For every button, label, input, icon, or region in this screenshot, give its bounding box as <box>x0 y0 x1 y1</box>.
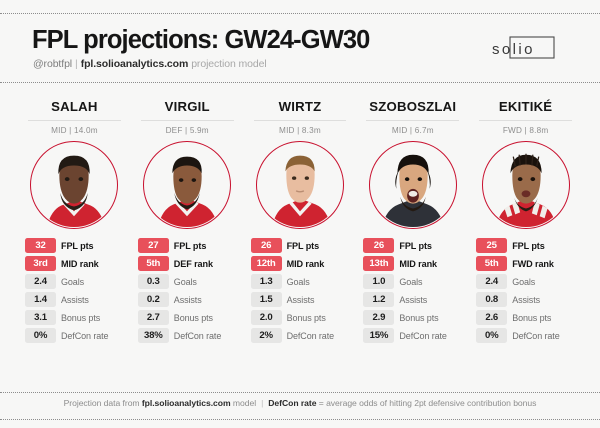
stat-row: 1.4 Assists <box>25 292 124 307</box>
svg-text:solio: solio <box>492 41 535 58</box>
stat-row: 38% DefCon rate <box>138 328 237 343</box>
player-photo <box>143 141 231 229</box>
stat-value: 2.4 <box>476 274 507 289</box>
footer-term: DefCon rate <box>268 398 316 408</box>
stat-value: 2.9 <box>363 310 394 325</box>
stat-label: Bonus pts <box>61 313 100 323</box>
stat-label: DefCon rate <box>174 331 221 341</box>
site-link[interactable]: fpl.solioanalytics.com <box>81 58 189 70</box>
stat-label: FPL pts <box>512 241 544 251</box>
stat-row: 2.7 Bonus pts <box>138 310 237 325</box>
player-name: SZOBOSZLAI <box>360 100 465 113</box>
stat-value: 15% <box>363 328 394 343</box>
stat-label: Bonus pts <box>287 313 326 323</box>
stat-label: Assists <box>512 295 540 305</box>
stat-value: 5th <box>138 256 169 271</box>
stat-label: MID rank <box>287 259 325 269</box>
stat-row: 1.2 Assists <box>363 292 462 307</box>
stat-value: 1.4 <box>25 292 56 307</box>
player-card-szoboszlai[interactable]: SZOBOSZLAI MID | 6.7m <box>356 96 469 380</box>
stat-label: DefCon rate <box>399 331 446 341</box>
stat-row: 15% DefCon rate <box>363 328 462 343</box>
stat-row: 2.0 Bonus pts <box>251 310 350 325</box>
player-name: EKITIKÉ <box>473 100 578 113</box>
stat-row: 12th MID rank <box>251 256 350 271</box>
player-card-virgil[interactable]: VIRGIL DEF | 5.9m <box>131 96 244 380</box>
stat-value: 1.5 <box>251 292 282 307</box>
players-grid: SALAH MID | 14.0m <box>18 96 582 380</box>
player-photo <box>30 141 118 229</box>
player-name: WIRTZ <box>248 100 353 113</box>
stat-value: 2.0 <box>251 310 282 325</box>
stat-row: 5th DEF rank <box>138 256 237 271</box>
stat-value: 0% <box>25 328 56 343</box>
photo-ring <box>30 141 118 229</box>
stat-label: FWD rank <box>512 259 554 269</box>
stat-row: 0.3 Goals <box>138 274 237 289</box>
stat-label: FPL pts <box>61 241 93 251</box>
name-underline <box>141 120 234 121</box>
stat-value: 32 <box>25 238 56 253</box>
stat-value: 0.8 <box>476 292 507 307</box>
stat-value: 26 <box>363 238 394 253</box>
divider-footer-top <box>0 392 600 393</box>
subtitle-separator: | <box>75 58 78 70</box>
stat-label: Assists <box>287 295 315 305</box>
stat-row: 3.1 Bonus pts <box>25 310 124 325</box>
divider-top <box>0 13 600 14</box>
stat-value: 2.6 <box>476 310 507 325</box>
stat-label: Goals <box>287 277 310 287</box>
player-stats: 25 FPL pts 5th FWD rank 2.4 Goals 0.8 As… <box>473 238 578 343</box>
stat-value: 12th <box>251 256 282 271</box>
player-stats: 27 FPL pts 5th DEF rank 0.3 Goals 0.2 As… <box>135 238 240 343</box>
footer-suffix: model <box>233 398 256 408</box>
page-title: FPL projections: GW24-GW30 <box>32 26 369 55</box>
stat-label: FPL pts <box>287 241 319 251</box>
stat-label: Bonus pts <box>174 313 213 323</box>
stat-row: 0.2 Assists <box>138 292 237 307</box>
stat-value: 2% <box>251 328 282 343</box>
player-meta: MID | 14.0m <box>22 126 127 135</box>
player-card-salah[interactable]: SALAH MID | 14.0m <box>18 96 131 380</box>
stat-label: MID rank <box>399 259 437 269</box>
stat-label: DefCon rate <box>61 331 108 341</box>
stat-label: MID rank <box>61 259 99 269</box>
player-photo <box>369 141 457 229</box>
stat-label: Goals <box>174 277 197 287</box>
player-meta: FWD | 8.8m <box>473 126 578 135</box>
stat-value: 2.4 <box>25 274 56 289</box>
stat-value: 0.3 <box>138 274 169 289</box>
stat-row: 2.4 Goals <box>25 274 124 289</box>
footer-definition: = average odds of hitting 2pt defensive … <box>319 398 537 408</box>
photo-ring <box>143 141 231 229</box>
stat-row: 1.5 Assists <box>251 292 350 307</box>
player-stats: 26 FPL pts 12th MID rank 1.3 Goals 1.5 A… <box>248 238 353 343</box>
stat-row: 5th FWD rank <box>476 256 575 271</box>
stat-row: 2% DefCon rate <box>251 328 350 343</box>
solio-logo: solio <box>490 32 572 66</box>
stat-row: 0% DefCon rate <box>25 328 124 343</box>
player-name: VIRGIL <box>135 100 240 113</box>
stat-value: 2.7 <box>138 310 169 325</box>
photo-ring <box>369 141 457 229</box>
stat-row: 1.0 Goals <box>363 274 462 289</box>
stat-row: 2.6 Bonus pts <box>476 310 575 325</box>
stat-row: 25 FPL pts <box>476 238 575 253</box>
stat-row: 2.4 Goals <box>476 274 575 289</box>
stat-row: 0% DefCon rate <box>476 328 575 343</box>
stat-row: 0.8 Assists <box>476 292 575 307</box>
stat-value: 1.2 <box>363 292 394 307</box>
name-underline <box>28 120 121 121</box>
player-meta: MID | 8.3m <box>248 126 353 135</box>
model-label: projection model <box>191 58 266 70</box>
player-photo <box>256 141 344 229</box>
stat-value: 0% <box>476 328 507 343</box>
stat-label: Assists <box>61 295 89 305</box>
player-photo <box>482 141 570 229</box>
stat-label: FPL pts <box>174 241 206 251</box>
stat-value: 0.2 <box>138 292 169 307</box>
infographic-page: FPL projections: GW24-GW30 @robtfpl|fpl.… <box>0 0 600 428</box>
footer-note: Projection data from fpl.solioanalytics.… <box>0 398 600 408</box>
stat-label: Assists <box>399 295 427 305</box>
footer-site[interactable]: fpl.solioanalytics.com <box>142 398 231 408</box>
stat-value: 38% <box>138 328 169 343</box>
divider-footer-bottom <box>0 419 600 420</box>
stat-label: FPL pts <box>399 241 431 251</box>
stat-label: Assists <box>174 295 202 305</box>
stat-value: 3.1 <box>25 310 56 325</box>
stat-value: 1.0 <box>363 274 394 289</box>
divider-header <box>0 82 600 83</box>
player-meta: MID | 6.7m <box>360 126 465 135</box>
name-underline <box>254 120 347 121</box>
stat-row: 2.9 Bonus pts <box>363 310 462 325</box>
stat-label: DefCon rate <box>512 331 559 341</box>
player-meta: DEF | 5.9m <box>135 126 240 135</box>
stat-label: Goals <box>399 277 422 287</box>
stat-value: 5th <box>476 256 507 271</box>
stat-value: 3rd <box>25 256 56 271</box>
stat-row: 26 FPL pts <box>363 238 462 253</box>
header-subtitle: @robtfpl|fpl.solioanalytics.comprojectio… <box>33 58 267 70</box>
stat-row: 13th MID rank <box>363 256 462 271</box>
player-name: SALAH <box>22 100 127 113</box>
stat-label: Bonus pts <box>399 313 438 323</box>
name-underline <box>366 120 459 121</box>
footer-prefix: Projection data from <box>64 398 140 408</box>
author-handle: @robtfpl <box>33 58 72 70</box>
player-stats: 32 FPL pts 3rd MID rank 2.4 Goals 1.4 As… <box>22 238 127 343</box>
stat-row: 32 FPL pts <box>25 238 124 253</box>
player-stats: 26 FPL pts 13th MID rank 1.0 Goals 1.2 A… <box>360 238 465 343</box>
stat-value: 26 <box>251 238 282 253</box>
stat-label: Goals <box>61 277 84 287</box>
photo-ring <box>256 141 344 229</box>
stat-row: 27 FPL pts <box>138 238 237 253</box>
stat-label: Bonus pts <box>512 313 551 323</box>
stat-row: 3rd MID rank <box>25 256 124 271</box>
stat-row: 1.3 Goals <box>251 274 350 289</box>
stat-label: DEF rank <box>174 259 213 269</box>
stat-label: DefCon rate <box>287 331 334 341</box>
stat-value: 1.3 <box>251 274 282 289</box>
footer-separator: | <box>261 398 263 408</box>
stat-value: 27 <box>138 238 169 253</box>
player-card-wirtz[interactable]: WIRTZ MID | 8.3m <box>244 96 357 380</box>
stat-value: 25 <box>476 238 507 253</box>
player-card-ekitike[interactable]: EKITIKÉ FWD | 8.8m <box>469 96 582 380</box>
name-underline <box>479 120 572 121</box>
stat-value: 13th <box>363 256 394 271</box>
stat-row: 26 FPL pts <box>251 238 350 253</box>
photo-ring <box>482 141 570 229</box>
stat-label: Goals <box>512 277 535 287</box>
